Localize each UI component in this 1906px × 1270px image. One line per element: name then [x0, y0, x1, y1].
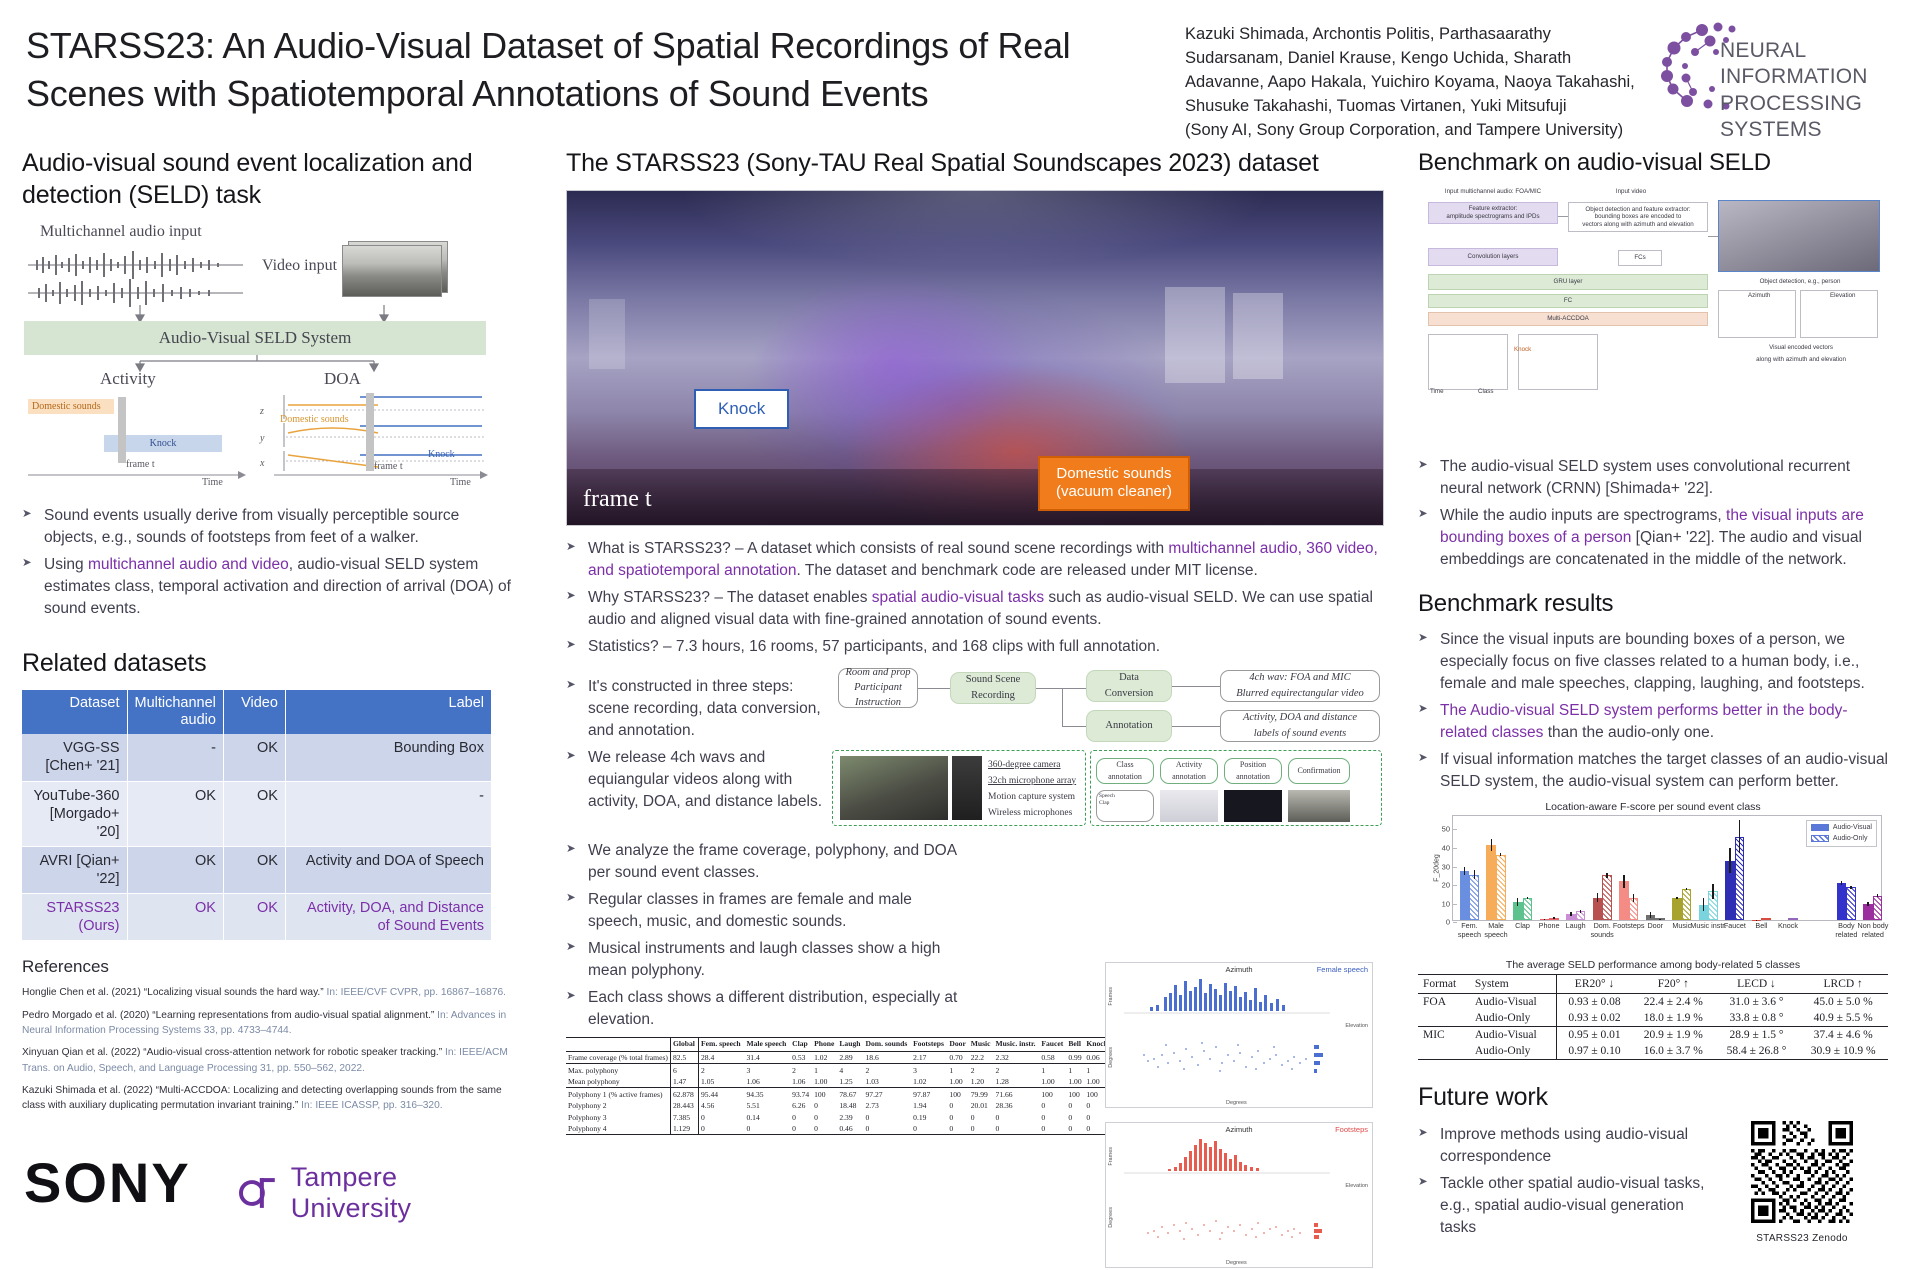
cell: 3: [744, 1064, 790, 1076]
equipment-label-camera: 360-degree camera: [988, 760, 1061, 770]
list-item: Sound events usually derive from visuall…: [22, 505, 512, 549]
cell: 82.5: [670, 1052, 698, 1064]
table-row: YouTube-360 [Morgado+ '20] OK OK -: [22, 781, 492, 846]
cell: 0: [947, 1100, 968, 1111]
qr-code-block[interactable]: STARSS23 Zenodo: [1736, 1121, 1868, 1244]
list-item: It's constructed in three steps: scene r…: [566, 676, 834, 742]
arch-input-audio-label: Input multichannel audio: FOA/MIC: [1428, 188, 1558, 196]
pano-window-1: [1165, 287, 1225, 383]
construction-section: It's constructed in three steps: scene r…: [566, 670, 1384, 830]
chart-ytick-mark: [1453, 829, 1457, 830]
cell: 4: [837, 1064, 863, 1076]
pipeline-wav-output-box: 4ch wav: FOA and MIC Blurred equirectang…: [1220, 670, 1380, 702]
cell-system: Audio-Only: [1470, 1043, 1557, 1060]
cell: 0: [699, 1123, 745, 1135]
cell: 71.66: [994, 1088, 1040, 1100]
poster-header: STARSS23: An Audio-Visual Dataset of Spa…: [0, 0, 1906, 140]
activity-time-label: Time: [202, 477, 223, 488]
pipeline-connector-4: [1062, 726, 1086, 727]
cell: 22.2: [969, 1052, 994, 1064]
bullet-highlight: spatial audio-visual tasks: [872, 589, 1044, 606]
list-item: While the audio inputs are spectrograms,…: [1418, 505, 1888, 571]
reference-item: Pedro Morgado et al. (2020) “Learning re…: [22, 1008, 512, 1039]
cell: 1.02: [812, 1052, 837, 1064]
activity-label: Activity: [100, 369, 156, 389]
chart-error-bar: [1712, 884, 1713, 899]
arch-input-video-label: Input video: [1586, 188, 1676, 196]
cell-f: 22.4 ± 2.4 %: [1632, 994, 1715, 1011]
table-row: Max. polyphony 6 2 3 2 1 4 2 3 1 2 2 1 1: [566, 1064, 1111, 1076]
cell-le: 28.9 ± 1.5 °: [1715, 1027, 1799, 1044]
chart-error-bar: [1841, 881, 1842, 885]
results-table-caption: The average SELD performance among body-…: [1418, 959, 1888, 971]
cell: 78.67: [837, 1088, 863, 1100]
page-title: STARSS23: An Audio-Visual Dataset of Spa…: [26, 22, 1186, 118]
cell: 100: [947, 1088, 968, 1100]
activity-frame-label: frame t: [126, 459, 155, 470]
pano-knock-tag: Knock: [694, 389, 789, 429]
stats-row-label: Mean polyphony: [566, 1076, 670, 1088]
video-thumbnail-front: [342, 245, 442, 297]
col-label: Label: [285, 690, 491, 735]
cell: 100: [1039, 1088, 1066, 1100]
panorama-image: Knock Domestic sounds (vacuum cleaner) f…: [566, 190, 1384, 526]
cell: 0: [1066, 1123, 1084, 1135]
chart-bar: [1496, 855, 1506, 921]
chart-error-bar: [1544, 919, 1545, 920]
res-col-le: LECD ↓: [1715, 975, 1799, 994]
cell-er: 0.93 ± 0.08: [1557, 994, 1632, 1011]
bullet-text: The audio-visual SELD system uses convol…: [1440, 458, 1850, 497]
pipeline-recording-box: Sound Scene Recording: [950, 672, 1036, 704]
cell-f: 16.0 ± 3.7 %: [1632, 1043, 1715, 1060]
table-header-row: Dataset Multichannel audio Video Label: [22, 690, 492, 735]
equipment-label-microphone: 32ch microphone array: [988, 776, 1076, 786]
cell: 18.48: [837, 1100, 863, 1111]
doa-plot-xlabel: Degrees: [1226, 1100, 1247, 1106]
arch-output-activity-plot: [1428, 334, 1508, 390]
cell: 1.00: [947, 1076, 968, 1088]
table-row: Frame coverage (% total frames) 82.5 28.…: [566, 1052, 1111, 1064]
stats-col-footsteps: Footsteps: [911, 1037, 947, 1052]
annotation-line-1: Annotation: [1105, 718, 1152, 733]
references-list: Honglie Chen et al. (2021) “Localizing v…: [22, 985, 512, 1113]
list-item: We analyze the frame coverage, polyphony…: [566, 840, 966, 884]
cell: 0: [790, 1123, 812, 1135]
arch-connector-1: [1558, 216, 1568, 217]
list-item: Each class shows a different distributio…: [566, 987, 966, 1031]
chart-xtick-label: Non body related: [1853, 922, 1893, 939]
cell: 79.99: [969, 1088, 994, 1100]
list-item: Statistics? – 7.3 hours, 16 rooms, 57 pa…: [566, 636, 1384, 658]
doa-axis-y: y: [260, 433, 264, 444]
arch-output-doa-plot: [1518, 334, 1598, 390]
chart-ytick: 40: [1442, 844, 1450, 853]
chart-bar: [1761, 918, 1771, 920]
cell: 2: [790, 1064, 812, 1076]
references-heading: References: [22, 957, 512, 977]
legend-swatch-filled: [1811, 824, 1829, 831]
doa-plot-footsteps: Azimuth Footsteps Frames Degrees Elevati…: [1105, 1122, 1373, 1268]
arch-encoded-line-2: along with azimuth and elevation: [1726, 356, 1876, 364]
bullet-text: Statistics? – 7.3 hours, 16 rooms, 57 pa…: [588, 638, 1160, 655]
chart-ylabel: F_20deg: [1433, 855, 1440, 883]
doa-scatter-female: [1124, 975, 1330, 1099]
cell: 0: [1066, 1111, 1084, 1122]
legend-swatch-hatched: [1811, 835, 1829, 842]
cell: 0: [911, 1123, 947, 1135]
legend-item-audio-visual: Audio-Visual: [1811, 823, 1872, 834]
list-item: Why STARSS23? – The dataset enables spat…: [566, 587, 1384, 631]
stats-col-music-instr: Music. instr.: [994, 1037, 1040, 1052]
table-row: FOA Audio-Visual 0.93 ± 0.08 22.4 ± 2.4 …: [1418, 994, 1888, 1011]
pipeline-conversion-box: Data Conversion: [1086, 670, 1172, 702]
chart-error-bar: [1703, 898, 1704, 911]
cell: 0.46: [837, 1123, 863, 1135]
cell: 1.00: [1039, 1076, 1066, 1088]
output-arrows-icon: [22, 355, 492, 373]
table-row: AVRI [Qian+ '22] OK OK Activity and DOA …: [22, 846, 492, 893]
pipeline-labels-output-box: Activity, DOA and distance labels of sou…: [1220, 710, 1380, 742]
related-datasets-heading: Related datasets: [22, 648, 512, 680]
cell-video: OK: [223, 781, 285, 846]
cell: 0: [864, 1111, 912, 1122]
chart-bar: [1873, 896, 1883, 921]
chart-error-bar: [1676, 897, 1677, 900]
sponsor-logos: SONY Tampere University: [24, 1150, 524, 1240]
cell-label: Bounding Box: [285, 734, 491, 781]
neurips-line-1: NEURAL INFORMATION: [1720, 38, 1906, 91]
cell: 4.56: [699, 1100, 745, 1111]
instruction-line-3: Instruction: [855, 695, 901, 710]
chart-error-bar: [1474, 870, 1475, 879]
cell: 0: [812, 1100, 837, 1111]
col-video: Video: [223, 690, 285, 735]
chart-bar: [1486, 845, 1496, 920]
bullet-text-cont: than the audio-only one.: [1543, 724, 1714, 741]
doa-plot-ylabel-frames: Frames: [1108, 987, 1114, 1006]
table-row: VGG-SS [Chen+ '21] - OK Bounding Box: [22, 734, 492, 781]
cell-format: [1418, 1043, 1470, 1060]
stats-col-bell: Bell: [1066, 1037, 1084, 1052]
labels-line-1: Activity, DOA and distance: [1243, 710, 1357, 725]
equipment-label-mocap: Motion capture system: [988, 792, 1075, 802]
reference-journal: In: IEEE ICASSP, pp. 316–320.: [301, 1100, 442, 1111]
cell: 1.06: [744, 1076, 790, 1088]
cell: 0: [790, 1111, 812, 1122]
anno-position-box: Position annotation: [1224, 758, 1282, 784]
pipeline-connector-2: [1036, 688, 1086, 689]
doa-plot: z y x: [260, 393, 488, 489]
chart-error-bar: [1606, 873, 1607, 878]
cell: 97.27: [864, 1088, 912, 1100]
bullet-text: Using: [44, 556, 88, 573]
cell: 1.129: [670, 1123, 698, 1135]
conversion-line-2: Conversion: [1105, 686, 1153, 701]
arch-azimuth-label: Azimuth: [1748, 292, 1770, 300]
table-row: Polyphony 4 1.129 0 0 0 0 0.46 0 0 0 0 0…: [566, 1123, 1111, 1135]
table-header-row: Global Fem. speech Male speech Clap Phon…: [566, 1037, 1111, 1052]
cell: 97.87: [911, 1088, 947, 1100]
pipeline-connector-5: [1172, 686, 1220, 687]
table-row: Polyphony 1 (% active frames) 62.878 95.…: [566, 1088, 1111, 1100]
bullet-text: If visual information matches the target…: [1440, 751, 1888, 790]
pano-domestic-tag: Domestic sounds (vacuum cleaner): [1038, 456, 1190, 512]
cell: 1: [1066, 1064, 1084, 1076]
pano-floor-strip: [567, 469, 1383, 525]
cell: 1.05: [699, 1076, 745, 1088]
doa-axis-x: x: [260, 458, 264, 469]
author-affiliations: (Sony AI, Sony Group Corporation, and Ta…: [1185, 118, 1645, 142]
chart-error-bar: [1527, 897, 1528, 900]
cell: 2: [994, 1064, 1040, 1076]
col-dataset: Dataset: [22, 690, 127, 735]
chart-bar: [1863, 904, 1873, 921]
cell: 0.58: [1039, 1052, 1066, 1064]
chart-ytick-mark: [1453, 904, 1457, 905]
chart-error-bar: [1729, 848, 1730, 873]
chart-error-bar: [1580, 910, 1581, 913]
cell-dataset: AVRI [Qian+ '22]: [22, 846, 127, 893]
chart-bar: [1682, 889, 1692, 921]
cell: 100: [812, 1088, 837, 1100]
doa-plot-class-label: Footsteps: [1335, 1125, 1368, 1134]
doa-plot-ylabel-degrees: Degrees: [1108, 1207, 1114, 1228]
pipeline-connector-6: [1172, 726, 1220, 727]
stats-col-faucet: Faucet: [1039, 1037, 1066, 1052]
chart-plot-area: F_20deg Audio-Visual Audio-Only 01020304…: [1452, 815, 1882, 921]
qr-code-icon[interactable]: [1751, 1121, 1853, 1223]
anno-activity-line-1: Activity: [1176, 759, 1202, 771]
res-col-format: Format: [1418, 975, 1470, 994]
fscore-bar-chart: Location-aware F-score per sound event c…: [1418, 801, 1888, 951]
benchmark-results-heading: Benchmark results: [1418, 589, 1888, 619]
feat-video-line-2: bounding boxes are encoded to: [1595, 213, 1682, 221]
chart-title: Location-aware F-score per sound event c…: [1418, 801, 1888, 813]
doa-plot-xlabel: Degrees: [1226, 1260, 1247, 1266]
cell: 0: [1039, 1100, 1066, 1111]
benchmark-bullets: The audio-visual SELD system uses convol…: [1418, 456, 1888, 571]
cell: 28.443: [670, 1100, 698, 1111]
cell: 7.385: [670, 1111, 698, 1122]
chart-error-bar: [1686, 888, 1687, 890]
cell: 1.20: [969, 1076, 994, 1088]
anno-thumb-clap: Clap: [1099, 800, 1109, 808]
statistics-table-wrap: Global Fem. speech Male speech Clap Phon…: [566, 1037, 1126, 1136]
stats-col-blank: [566, 1037, 670, 1052]
feat-video-line-1: Object detection and feature extractor:: [1585, 206, 1690, 214]
instruction-line-1: Room and prop: [846, 665, 911, 680]
cell: 6.26: [790, 1100, 812, 1111]
doa-plot-ylabel-degrees: Degrees: [1108, 1047, 1114, 1068]
cell: 0: [947, 1111, 968, 1122]
recording-line-2: Recording: [971, 688, 1015, 703]
legend-label: Audio-Only: [1833, 835, 1868, 842]
chart-error-bar: [1739, 820, 1740, 852]
feat-audio-line-2: amplitude spectrograms and IPDs: [1446, 213, 1539, 221]
cell: 2: [864, 1064, 912, 1076]
cell: 0: [744, 1123, 790, 1135]
cell: 1.02: [911, 1076, 947, 1088]
cell: 0: [812, 1111, 837, 1122]
cell: 0: [994, 1111, 1040, 1122]
bullet-text: While the audio inputs are spectrograms,: [1440, 507, 1726, 524]
feat-video-line-3: vectors along with azimuth and elevation: [1582, 221, 1693, 229]
arch-fc-box: FC: [1428, 294, 1708, 308]
cell: 93.74: [790, 1088, 812, 1100]
neurips-wordmark: NEURAL INFORMATION PROCESSING SYSTEMS: [1720, 38, 1906, 143]
stats-col-music: Music: [969, 1037, 994, 1052]
reference-journal: In: IEEE/CVF CVPR, pp. 16867–16876.: [326, 987, 506, 998]
statistics-table-body: Frame coverage (% total frames) 82.5 28.…: [566, 1052, 1111, 1135]
chart-bar: [1469, 875, 1479, 921]
cell-f: 20.9 ± 1.9 %: [1632, 1027, 1715, 1044]
tampere-mark-icon: [239, 1172, 283, 1214]
arch-connector-2: [1708, 236, 1718, 237]
cell: 3: [911, 1064, 947, 1076]
pipeline-instruction-box: Room and prop Participant Instruction: [838, 668, 918, 708]
cell: 0.14: [744, 1111, 790, 1122]
list-item: Tackle other spatial audio-visual tasks,…: [1418, 1173, 1718, 1239]
cell-system: Audio-Visual: [1470, 1027, 1557, 1044]
doa-label: DOA: [324, 369, 361, 389]
seld-task-heading: Audio-visual sound event localization an…: [22, 148, 512, 211]
benchmark-results-bullets: Since the visual inputs are bounding box…: [1418, 629, 1888, 793]
cell: 28.36: [994, 1100, 1040, 1111]
list-item: If visual information matches the target…: [1418, 749, 1888, 793]
reference-main: Xinyuan Qian et al. (2022) “Audio-visual…: [22, 1047, 442, 1058]
cell: 0: [1066, 1100, 1084, 1111]
cell: 2.73: [864, 1100, 912, 1111]
arch-fcs-box: FCs: [1618, 250, 1662, 266]
chart-error-bar: [1867, 902, 1868, 906]
cell: 0: [994, 1123, 1040, 1135]
chart-error-bar: [1464, 867, 1465, 874]
sony-logo: SONY: [24, 1151, 191, 1214]
doa-distribution-plots: Azimuth Female speech Frames Degrees Ele…: [1105, 962, 1375, 1262]
res-col-f: F20° ↑: [1632, 975, 1715, 994]
anno-activity-box: Activity annotation: [1160, 758, 1218, 784]
list-item: We release 4ch wavs and equiangular vide…: [566, 747, 834, 813]
list-item: The audio-visual SELD system uses convol…: [1418, 456, 1888, 500]
chart-ytick-mark: [1453, 867, 1457, 868]
bullet-text: What is STARSS23? – A dataset which cons…: [588, 540, 1168, 557]
res-col-er: ER20° ↓: [1557, 975, 1632, 994]
arch-conv-box: Convolution layers: [1428, 248, 1558, 266]
anno-class-line-2: annotation: [1108, 771, 1142, 783]
chart-error-bar: [1659, 919, 1660, 920]
av-seld-system-box: Audio-Visual SELD System: [24, 321, 486, 355]
doa-plot-side-label: Elevation: [1345, 1183, 1368, 1189]
stats-col-global: Global: [670, 1037, 698, 1052]
list-item: Regular classes in frames are female and…: [566, 889, 966, 933]
tampere-logo: Tampere University: [239, 1162, 524, 1224]
reference-item: Xinyuan Qian et al. (2022) “Audio-visual…: [22, 1045, 512, 1076]
activity-frame-marker: [118, 397, 126, 463]
doa-plot-ylabel-frames: Frames: [1108, 1147, 1114, 1166]
pano-frame-label: frame t: [583, 486, 652, 513]
cell: 1.25: [837, 1076, 863, 1088]
cell-lr: 30.9 ± 10.9 %: [1798, 1043, 1888, 1060]
arch-video-feature-box: Object detection and feature extractor: …: [1568, 202, 1708, 232]
cell-le: 31.0 ± 3.6 °: [1715, 994, 1799, 1011]
table-row: Mean polyphony 1.47 1.05 1.06 1.06 1.00 …: [566, 1076, 1111, 1088]
feat-audio-line-1: Feature extractor:: [1469, 205, 1518, 213]
arch-detection-image: [1718, 200, 1880, 272]
chart-bar: [1788, 918, 1798, 920]
benchmark-results-table: Format System ER20° ↓ F20° ↑ LECD ↓ LRCD…: [1418, 974, 1888, 1060]
cell: 2.39: [837, 1111, 863, 1122]
doa-plot-side-label: Elevation: [1345, 1023, 1368, 1029]
cell: 18.6: [864, 1052, 912, 1064]
arch-time-label: Time: [1430, 388, 1444, 396]
list-item: Since the visual inputs are bounding box…: [1418, 629, 1888, 695]
seld-task-diagram: Multichannel audio input Video input: [22, 221, 492, 491]
cell: 1.94: [911, 1100, 947, 1111]
chart-bar: [1837, 883, 1847, 921]
chart-ytick-mark: [1453, 848, 1457, 849]
doa-plot-female-speech: Azimuth Female speech Frames Degrees Ele…: [1105, 962, 1373, 1108]
table-row: Audio-Only 0.93 ± 0.02 18.0 ± 1.9 % 33.8…: [1418, 1010, 1888, 1027]
pano-window-3: [589, 299, 625, 369]
cell: 100: [1066, 1088, 1084, 1100]
cell: 0.70: [947, 1052, 968, 1064]
cell: 94.35: [744, 1088, 790, 1100]
cell: 95.44: [699, 1088, 745, 1100]
stats-col-dom-sounds: Dom. sounds: [864, 1037, 912, 1052]
video-input-label: Video input: [262, 257, 337, 275]
stats-col-phone: Phone: [812, 1037, 837, 1052]
benchmark-heading: Benchmark on audio-visual SELD: [1418, 148, 1888, 178]
cell-video: OK: [223, 846, 285, 893]
cell-format: [1418, 1010, 1470, 1027]
cell-le: 33.8 ± 0.8 °: [1715, 1010, 1799, 1027]
poster-root: STARSS23: An Audio-Visual Dataset of Spa…: [0, 0, 1906, 1270]
cell-video: OK: [223, 734, 285, 781]
doa-frame-marker: [366, 393, 374, 471]
chart-error-bar: [1517, 898, 1518, 905]
wav-line-1: 4ch wav: FOA and MIC: [1249, 670, 1350, 685]
bullet-text: Since the visual inputs are bounding box…: [1440, 631, 1865, 692]
future-work-heading: Future work: [1418, 1082, 1888, 1114]
arch-multiaccdoa-box: Multi-ACCDOA: [1428, 312, 1708, 326]
cell: 2.89: [837, 1052, 863, 1064]
list-item: The Audio-visual SELD system performs be…: [1418, 700, 1888, 744]
cell-audio: OK: [127, 894, 223, 941]
arch-elevation-label: Elevation: [1830, 292, 1855, 300]
chart-ytick: 20: [1442, 881, 1450, 890]
cell-format: MIC: [1418, 1027, 1470, 1044]
table-row: Audio-Only 0.97 ± 0.10 16.0 ± 3.7 % 58.4…: [1418, 1043, 1888, 1060]
cell: 0: [699, 1111, 745, 1122]
list-item: Using multichannel audio and video, audi…: [22, 554, 512, 620]
list-item: Improve methods using audio-visual corre…: [1418, 1124, 1718, 1168]
cell-audio: -: [127, 734, 223, 781]
table-row-ours: STARSS23 (Ours) OK OK Activity, DOA, and…: [22, 894, 492, 941]
anno-class-box: Class annotation: [1096, 758, 1154, 784]
microphone-array-photo: [952, 756, 982, 820]
bullet-text: Why STARSS23? – The dataset enables: [588, 589, 872, 606]
chart-bar: [1523, 898, 1533, 921]
arch-class-label: Class: [1478, 388, 1493, 396]
list-item: Musical instruments and laugh classes sh…: [566, 938, 966, 982]
cell: 1: [1039, 1064, 1066, 1076]
anno-activity-thumb: [1160, 790, 1218, 822]
pipeline-diagram: Room and prop Participant Instruction So…: [838, 668, 1384, 828]
cell-le: 58.4 ± 26.8 °: [1715, 1043, 1799, 1060]
chart-bar: [1672, 898, 1682, 921]
cell-er: 0.95 ± 0.01: [1557, 1027, 1632, 1044]
